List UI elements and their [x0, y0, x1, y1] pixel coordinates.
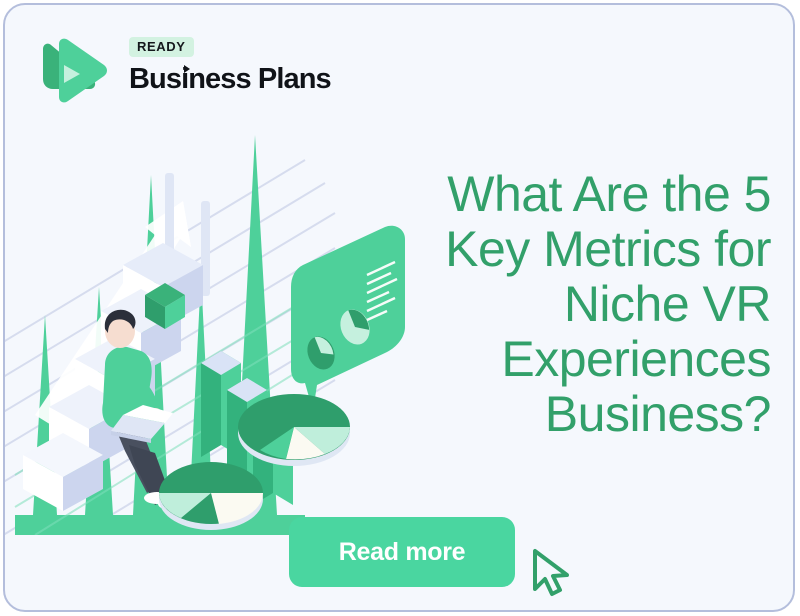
brand-name: Business Plans: [129, 64, 329, 94]
brand-logo[interactable]: READY Business Plans: [31, 27, 321, 117]
pie-chart-large: [238, 394, 350, 466]
play-dot-icon: [184, 65, 190, 73]
brand-logo-text: READY Business Plans: [129, 37, 329, 94]
promo-banner: READY Business Plans: [3, 3, 795, 612]
brand-name-label: Business Plans: [129, 63, 331, 95]
play-triangle-logo-icon: [31, 31, 113, 113]
read-more-button[interactable]: Read more: [289, 517, 515, 587]
ready-badge: READY: [129, 37, 194, 57]
mouse-pointer-icon: [529, 545, 579, 600]
cta-area: Read more: [289, 517, 609, 597]
page-title: What Are the 5 Key Metrics for Niche VR …: [351, 167, 771, 442]
pie-chart-small: [159, 462, 263, 530]
